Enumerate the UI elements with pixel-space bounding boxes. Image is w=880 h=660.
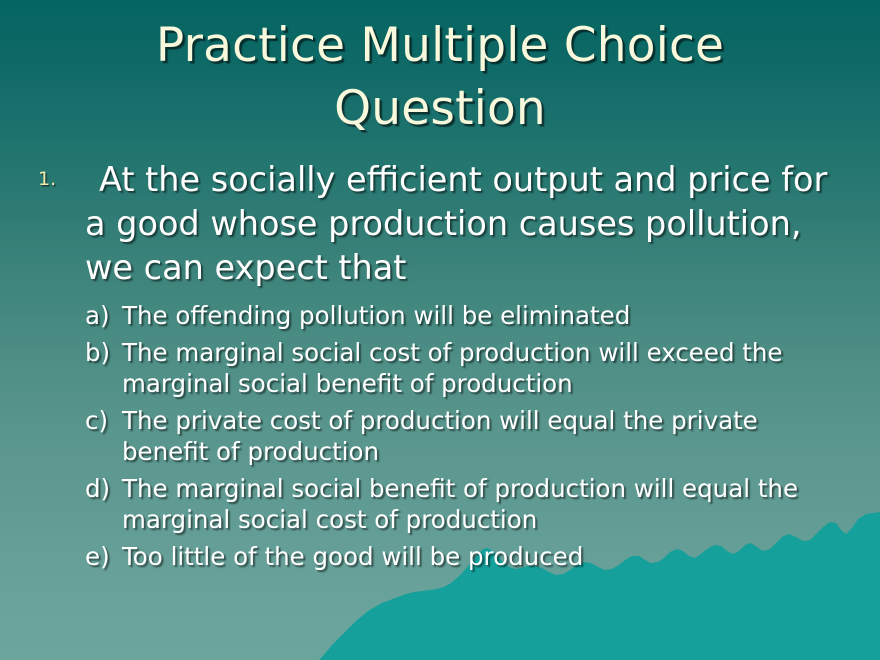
option-label-c: The private cost of production will equa…: [122, 405, 840, 467]
option-label-d: The marginal social benefit of productio…: [122, 473, 840, 535]
option-label-b: The marginal social cost of production w…: [122, 337, 840, 399]
option-marker-b: b): [85, 337, 115, 368]
title-line-2: Question: [0, 77, 880, 140]
slide-body: 1. At the socially efficient output and …: [0, 158, 880, 578]
option-label-a: The offending pollution will be eliminat…: [122, 300, 840, 331]
answer-option-b[interactable]: b) The marginal social cost of productio…: [85, 337, 840, 399]
answer-option-d[interactable]: d) The marginal social benefit of produc…: [85, 473, 840, 535]
question-text-wrapper: At the socially efficient output and pri…: [85, 158, 844, 290]
question-text: At the socially efficient output and pri…: [85, 160, 827, 287]
slide-title: Practice Multiple Choice Question: [0, 14, 880, 140]
answer-option-e[interactable]: e) Too little of the good will be produc…: [85, 541, 840, 572]
question-number: 1.: [38, 170, 56, 189]
title-line-1: Practice Multiple Choice: [0, 14, 880, 77]
option-marker-d: d): [85, 473, 115, 504]
presentation-slide: Practice Multiple Choice Question 1. At …: [0, 0, 880, 660]
answer-option-a[interactable]: a) The offending pollution will be elimi…: [85, 300, 840, 331]
option-marker-c: c): [85, 405, 115, 436]
option-marker-e: e): [85, 541, 115, 572]
answer-option-c[interactable]: c) The private cost of production will e…: [85, 405, 840, 467]
option-label-e: Too little of the good will be produced: [122, 541, 840, 572]
option-marker-a: a): [85, 300, 115, 331]
question-item: 1. At the socially efficient output and …: [0, 158, 880, 290]
answer-option-list: a) The offending pollution will be elimi…: [0, 300, 880, 572]
